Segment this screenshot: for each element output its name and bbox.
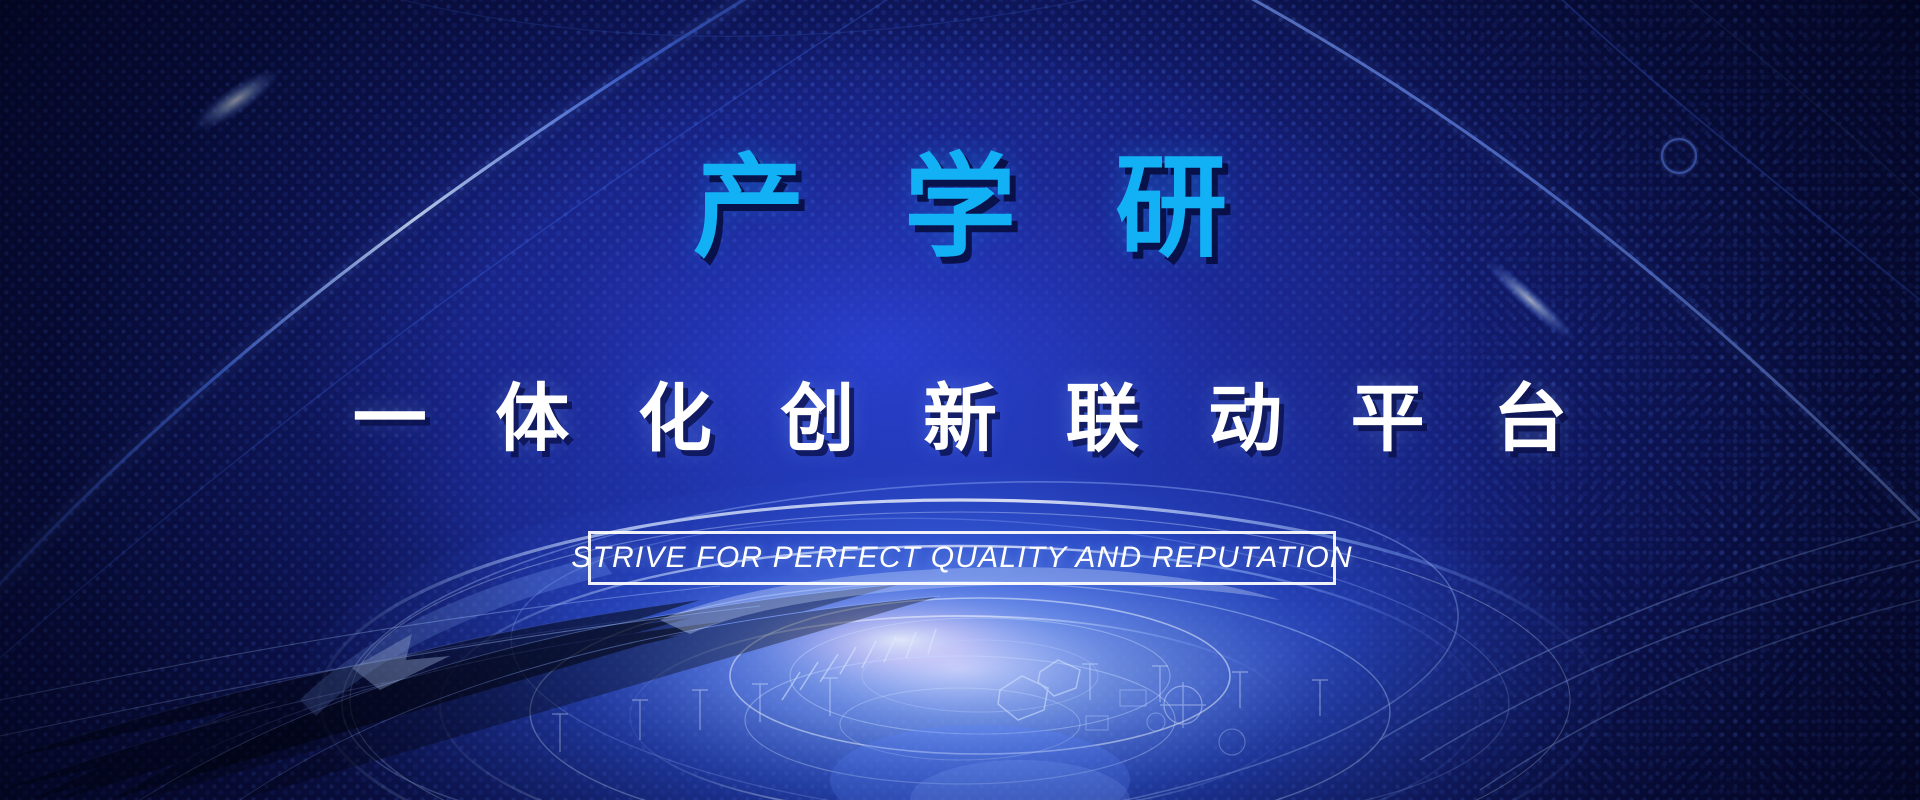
page-title: 产 学 研 xyxy=(0,152,1920,264)
tech-globe-hud xyxy=(0,440,1920,800)
english-tagline: STRIVE FOR PERFECT QUALITY AND REPUTATIO… xyxy=(571,541,1353,575)
hero-banner: 产 学 研 一 体 化 创 新 联 动 平 台 STRIVE FOR PERFE… xyxy=(0,0,1920,800)
page-subtitle: 一 体 化 创 新 联 动 平 台 xyxy=(0,382,1920,456)
tagline-box: STRIVE FOR PERFECT QUALITY AND REPUTATIO… xyxy=(588,531,1336,585)
